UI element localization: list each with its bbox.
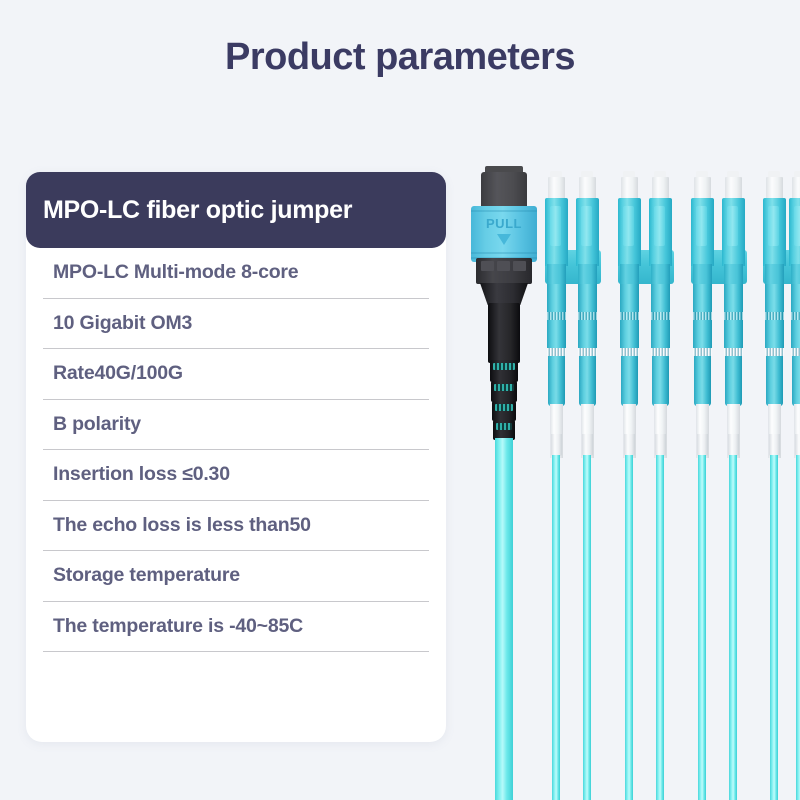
- lc-latch: [654, 206, 665, 246]
- lc-grip-rib: [620, 312, 639, 320]
- spec-row: Rate40G/100G: [43, 349, 429, 400]
- spec-list: MPO-LC Multi-mode 8-core 10 Gigabit OM3 …: [26, 248, 446, 652]
- lc-boot: [792, 356, 800, 406]
- spec-row: Storage temperature: [43, 551, 429, 602]
- spec-row: Insertion loss ≤0.30: [43, 450, 429, 501]
- lc-boot: [621, 356, 638, 406]
- mpo-boot-rib: [493, 363, 515, 370]
- lc-fiber-cable: [770, 455, 778, 800]
- spec-row: 10 Gigabit OM3: [43, 299, 429, 350]
- lc-ferrule: [548, 177, 565, 199]
- lc-fiber-cable: [796, 455, 800, 800]
- lc-fiber-cable: [625, 455, 633, 800]
- pull-down-arrow-icon: [497, 234, 511, 245]
- lc-boot: [766, 356, 783, 406]
- mpo-latch-slot: [513, 261, 526, 271]
- lc-ferrule: [652, 177, 669, 199]
- lc-grip-rib: [693, 348, 712, 356]
- spec-row-label: 10 Gigabit OM3: [53, 312, 192, 335]
- lc-grip-rib: [791, 312, 800, 320]
- lc-latch: [550, 206, 561, 246]
- lc-boot: [548, 356, 565, 406]
- spec-row-label: Storage temperature: [53, 564, 240, 587]
- lc-grip-rib: [578, 348, 597, 356]
- lc-ferrule: [792, 177, 800, 199]
- lc-grip-rib: [765, 348, 784, 356]
- lc-grip-rib: [765, 312, 784, 320]
- lc-grip-rib: [791, 348, 800, 356]
- lc-shoulder: [765, 264, 784, 286]
- spec-card-title: MPO-LC fiber optic jumper: [43, 196, 352, 225]
- spec-row: The temperature is -40~85C: [43, 602, 429, 653]
- lc-strain-relief-tip: [551, 434, 562, 456]
- lc-boot: [579, 356, 596, 406]
- spec-row-label: Insertion loss ≤0.30: [53, 463, 230, 486]
- lc-latch: [696, 206, 707, 246]
- lc-fiber-cable: [729, 455, 737, 800]
- lc-boot: [652, 356, 669, 406]
- lc-grip-rib: [547, 312, 566, 320]
- lc-shoulder: [693, 264, 712, 286]
- mpo-neck: [480, 283, 528, 305]
- spec-row: The echo loss is less than50: [43, 501, 429, 552]
- spec-row: MPO-LC Multi-mode 8-core: [43, 248, 429, 299]
- product-illustration: PULL: [450, 0, 800, 800]
- lc-grip-rib: [693, 312, 712, 320]
- lc-latch: [623, 206, 634, 246]
- lc-ferrule: [766, 177, 783, 199]
- lc-grip-rib: [724, 348, 743, 356]
- lc-strain-relief-tip: [697, 434, 708, 456]
- mpo-boot-rib: [494, 384, 514, 391]
- lc-fiber-cable: [656, 455, 664, 800]
- lc-ferrule: [621, 177, 638, 199]
- mpo-boot-rib: [495, 404, 513, 411]
- lc-strain-relief-tip: [624, 434, 635, 456]
- lc-fiber-cable: [583, 455, 591, 800]
- mpo-pull-label: PULL: [471, 216, 537, 231]
- mpo-latch-slot: [481, 261, 494, 271]
- lc-strain-relief-tip: [769, 434, 780, 456]
- lc-shoulder: [724, 264, 743, 286]
- lc-fiber-cable: [698, 455, 706, 800]
- spec-row-label: B polarity: [53, 413, 141, 436]
- lc-boot: [725, 356, 742, 406]
- mpo-boot-rib: [496, 423, 512, 430]
- mpo-pull-tab: PULL: [471, 206, 537, 262]
- lc-shoulder: [547, 264, 566, 286]
- spec-row-label: Rate40G/100G: [53, 362, 183, 385]
- lc-grip-rib: [547, 348, 566, 356]
- lc-shoulder: [791, 264, 800, 286]
- lc-ferrule: [579, 177, 596, 199]
- lc-strain-relief-tip: [795, 434, 800, 456]
- spec-row-label: The temperature is -40~85C: [53, 615, 303, 638]
- mpo-trunk-cable: [495, 438, 513, 800]
- lc-grip-rib: [651, 312, 670, 320]
- lc-grip-rib: [651, 348, 670, 356]
- lc-strain-relief-tip: [582, 434, 593, 456]
- lc-latch: [794, 206, 800, 246]
- lc-ferrule: [694, 177, 711, 199]
- lc-strain-relief-tip: [655, 434, 666, 456]
- lc-latch: [768, 206, 779, 246]
- lc-grip-rib: [620, 348, 639, 356]
- lc-shoulder: [578, 264, 597, 286]
- lc-latch: [727, 206, 738, 246]
- spec-row: B polarity: [43, 400, 429, 451]
- lc-latch: [581, 206, 592, 246]
- lc-grip-rib: [578, 312, 597, 320]
- lc-strain-relief-tip: [728, 434, 739, 456]
- spec-row-label: MPO-LC Multi-mode 8-core: [53, 261, 298, 284]
- spec-row-label: The echo loss is less than50: [53, 514, 311, 537]
- lc-boot: [694, 356, 711, 406]
- lc-shoulder: [620, 264, 639, 286]
- mpo-latch-slot: [497, 261, 510, 271]
- lc-shoulder: [651, 264, 670, 286]
- lc-ferrule: [725, 177, 742, 199]
- lc-grip-rib: [724, 312, 743, 320]
- lc-fiber-cable: [552, 455, 560, 800]
- mpo-boot: [488, 303, 520, 363]
- spec-card: MPO-LC fiber optic jumper MPO-LC Multi-m…: [26, 172, 446, 742]
- spec-card-header: MPO-LC fiber optic jumper: [26, 172, 446, 248]
